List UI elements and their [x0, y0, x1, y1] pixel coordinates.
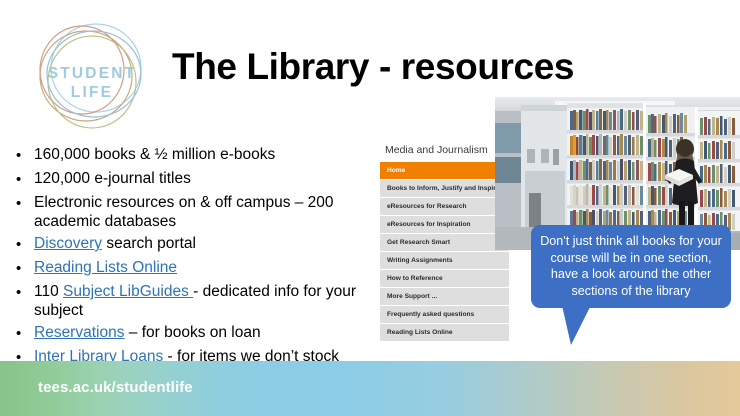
resource-link[interactable]: Subject LibGuides: [63, 283, 193, 300]
resource-link[interactable]: Discovery: [34, 235, 102, 252]
bullet-text: Discovery search portal: [34, 234, 196, 253]
bullet-item: •110 Subject LibGuides - dedicated info …: [14, 282, 386, 320]
logo-text-line1: STUDENT: [22, 64, 162, 83]
menu-item-frequently-asked-questions[interactable]: Frequently asked questions: [380, 306, 509, 324]
bullet-text-segment: 110: [34, 283, 63, 300]
page-title: The Library - resources: [172, 46, 574, 88]
bullet-marker-icon: •: [14, 258, 34, 279]
bullet-text-segment: search portal: [102, 235, 196, 252]
menu-item-eresources-for-research[interactable]: eResources for Research: [380, 198, 509, 216]
bullet-item: •Reservations – for books on loan: [14, 323, 386, 344]
menu-item-home[interactable]: Home: [380, 162, 509, 180]
bullet-marker-icon: •: [14, 282, 34, 303]
bullet-item: •Discovery search portal: [14, 234, 386, 255]
resources-bullet-list: •160,000 books & ½ million e-books•120,0…: [14, 145, 386, 371]
bullet-text: 110 Subject LibGuides - dedicated info f…: [34, 282, 386, 320]
logo-text-line2: LIFE: [22, 83, 162, 102]
bullet-text: Reservations – for books on loan: [34, 323, 261, 342]
logo-text: STUDENT LIFE: [22, 64, 162, 102]
bullet-marker-icon: •: [14, 234, 34, 255]
callout-bubble: Don't just think all books for your cour…: [531, 225, 731, 353]
bullet-marker-icon: •: [14, 145, 34, 166]
menu-item-get-research-smart[interactable]: Get Research Smart: [380, 234, 509, 252]
bullet-item: •Electronic resources on & off campus – …: [14, 193, 386, 231]
banner-url-text: tees.ac.uk/studentlife: [38, 379, 193, 396]
bullet-item: •160,000 books & ½ million e-books: [14, 145, 386, 166]
menu-item-eresources-for-inspiration[interactable]: eResources for Inspiration: [380, 216, 509, 234]
bullet-marker-icon: •: [14, 193, 34, 214]
bullet-text-segment: Electronic resources on & off campus – 2…: [34, 194, 334, 230]
bullet-item: •Reading Lists Online: [14, 258, 386, 279]
menu-item-how-to-reference[interactable]: How to Reference: [380, 270, 509, 288]
bullet-text: Reading Lists Online: [34, 258, 177, 277]
bullet-item: •120,000 e-journal titles: [14, 169, 386, 190]
bullet-text-segment: 120,000 e-journal titles: [34, 170, 191, 187]
student-life-logo: STUDENT LIFE: [22, 18, 162, 136]
menu-item-more-support[interactable]: More Support ...: [380, 288, 509, 306]
menu-item-reading-lists-online[interactable]: Reading Lists Online: [380, 324, 509, 342]
libguide-menu-panel: Media and Journalism HomeBooks to Inform…: [380, 137, 509, 356]
resource-link[interactable]: Reading Lists Online: [34, 259, 177, 276]
menu-item-books-to-inform-justify-and-inspire[interactable]: Books to Inform, Justify and Inspire: [380, 180, 509, 198]
bullet-text: 120,000 e-journal titles: [34, 169, 191, 188]
slide-canvas: STUDENT LIFE The Library - resources •16…: [0, 0, 740, 416]
bullet-text-segment: 160,000 books & ½ million e-books: [34, 146, 275, 163]
bullet-marker-icon: •: [14, 169, 34, 190]
bullet-marker-icon: •: [14, 323, 34, 344]
bullet-text-segment: – for books on loan: [124, 324, 260, 341]
menu-panel-title: Media and Journalism: [380, 137, 509, 162]
callout-text: Don't just think all books for your cour…: [531, 225, 731, 308]
bullet-text: 160,000 books & ½ million e-books: [34, 145, 275, 164]
resource-link[interactable]: Reservations: [34, 324, 124, 341]
bottom-banner: tees.ac.uk/studentlife: [0, 361, 740, 416]
menu-item-writing-assignments[interactable]: Writing Assignments: [380, 252, 509, 270]
menu-item-list: HomeBooks to Inform, Justify and Inspire…: [380, 162, 509, 342]
bullet-text: Electronic resources on & off campus – 2…: [34, 193, 386, 231]
